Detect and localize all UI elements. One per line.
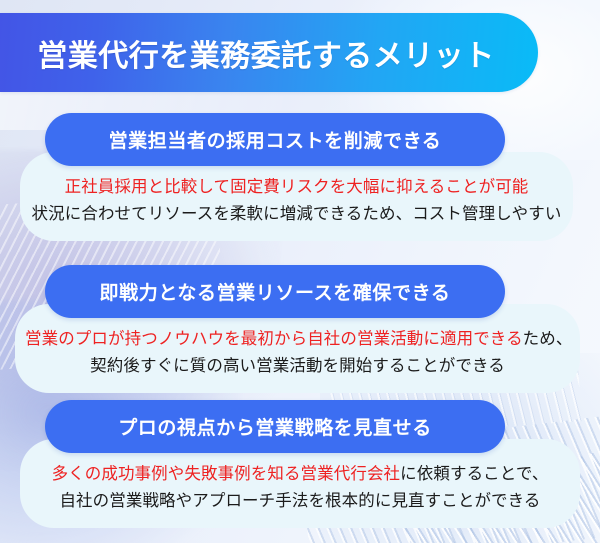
benefit-heading-pill: 営業担当者の採用コストを削減できる	[45, 113, 505, 166]
benefit-section: 即戦力となる営業リソースを確保できる 営業のプロが持つノウハウを最初から自社の営…	[0, 265, 600, 393]
benefit-body-line: 正社員採用と比較して固定費リスクを大幅に抑えることが可能	[30, 174, 563, 201]
benefit-body-plain: に依頼することで、	[400, 465, 548, 483]
benefit-body-line: 契約後すぐに質の高い営業活動を開始することができる	[25, 353, 570, 380]
benefit-body-plain: 自社の営業戦略やアプローチ手法を根本的に見直すことができる	[59, 492, 540, 510]
benefit-heading-text: 即戦力となる営業リソースを確保できる	[100, 278, 451, 305]
benefit-body-plain: 契約後すぐに質の高い営業活動を開始することができる	[90, 357, 505, 375]
benefit-heading-pill: 即戦力となる営業リソースを確保できる	[45, 265, 505, 318]
benefit-heading-text: 営業担当者の採用コストを削減できる	[109, 126, 442, 153]
benefit-body-line: 多くの成功事例や失敗事例を知る営業代行会社に依頼することで、	[30, 461, 570, 488]
benefit-body-plain: 状況に合わせてリソースを柔軟に増減できるため、コスト管理しやすい	[32, 205, 562, 223]
infographic-root: 営業代行を業務委託するメリット 営業担当者の採用コストを削減できる 正社員採用と…	[0, 0, 600, 543]
benefit-body-highlight: 営業のプロが持つノウハウを最初から自社の営業活動に適用できる	[25, 330, 523, 348]
benefit-section: プロの視点から営業戦略を見直せる 多くの成功事例や失敗事例を知る営業代行会社に依…	[0, 400, 600, 528]
benefit-body-plain: ため、	[523, 330, 573, 348]
benefit-heading-text: プロの視点から営業戦略を見直せる	[118, 413, 432, 440]
benefit-body-highlight: 多くの成功事例や失敗事例を知る営業代行会社	[52, 465, 401, 483]
benefit-section: 営業担当者の採用コストを削減できる 正社員採用と比較して固定費リスクを大幅に抑え…	[0, 113, 600, 241]
page-title: 営業代行を業務委託するメリット	[37, 31, 501, 75]
benefit-body-line: 自社の営業戦略やアプローチ手法を根本的に見直すことができる	[30, 488, 570, 515]
benefit-heading-pill: プロの視点から営業戦略を見直せる	[45, 400, 505, 453]
benefit-body-highlight: 正社員採用と比較して固定費リスクを大幅に抑えることが可能	[65, 178, 529, 196]
benefit-body-line: 状況に合わせてリソースを柔軟に増減できるため、コスト管理しやすい	[30, 201, 563, 228]
benefit-body-line: 営業のプロが持つノウハウを最初から自社の営業活動に適用できるため、	[25, 326, 570, 353]
title-banner: 営業代行を業務委託するメリット	[0, 13, 538, 92]
